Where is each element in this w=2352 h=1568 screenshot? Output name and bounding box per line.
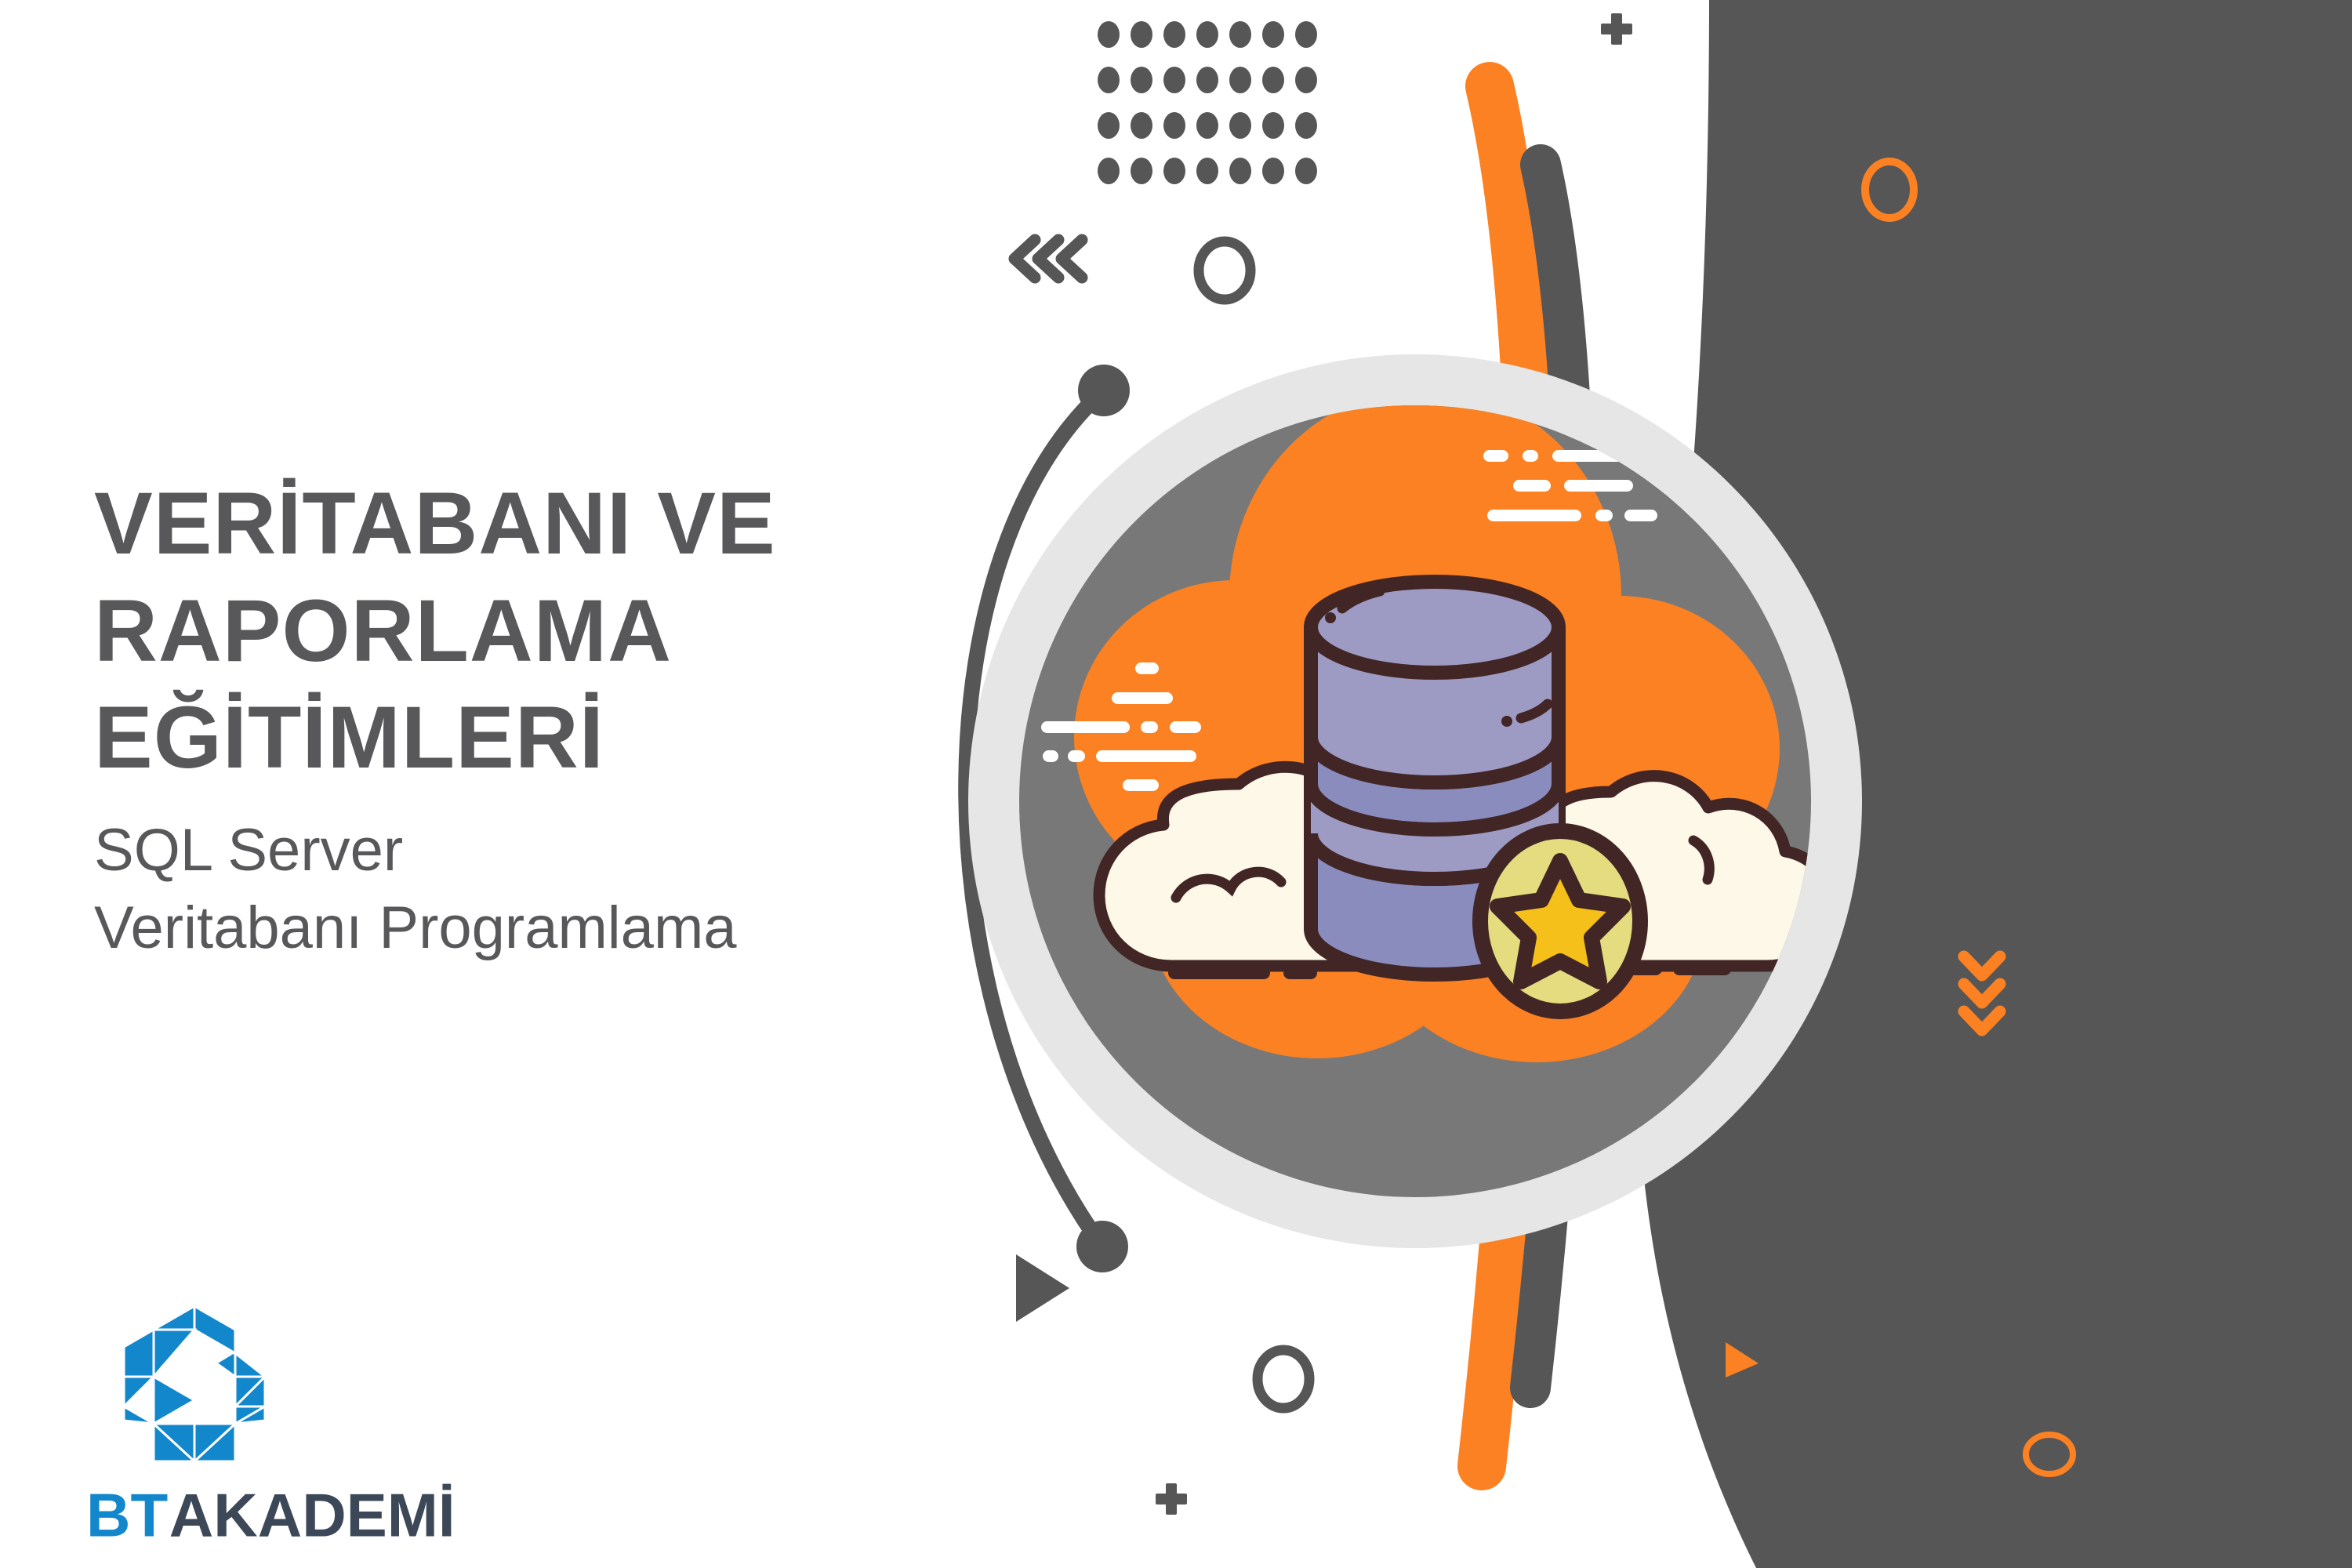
brand-word-primary: BT [86,1480,168,1549]
page-title-line-2: RAPORLAMA [94,578,894,685]
brand-logo[interactable]: BT AKADEMİ [86,1301,494,1552]
dot-grid [1098,21,1317,184]
circle-outline-top [1199,241,1250,299]
circle-outline-bottom [1258,1350,1309,1408]
subtitle-block: SQL Server Veritabanı Programlama [94,812,894,967]
page-title-line-1: VERİTABANI VE [94,470,894,578]
subtitle-line-1: SQL Server [94,812,894,890]
plus-bottom-icon [1156,1483,1187,1515]
headline-block: VERİTABANI VE RAPORLAMA EĞİTİMLERİ SQL S… [94,470,894,967]
hexagon-arrow-mark-icon [116,1301,273,1466]
brand-word-secondary: AKADEMİ [169,1480,456,1549]
orbit-ball-bottom [1076,1221,1128,1272]
orbit-ball-top [1078,365,1130,416]
chevrons-left-icon [1014,240,1082,278]
play-triangle-gray-icon [1016,1254,1069,1322]
plus-top-right-icon [1601,13,1632,45]
page-title-line-3: EĞİTİMLERİ [94,684,894,792]
subtitle-line-2: Veritabanı Programlama [94,890,894,967]
brand-wordmark: BT AKADEMİ [86,1480,474,1552]
poster-canvas: VERİTABANI VE RAPORLAMA EĞİTİMLERİ SQL S… [0,0,2352,1568]
gold-star-medal [1480,831,1640,1011]
